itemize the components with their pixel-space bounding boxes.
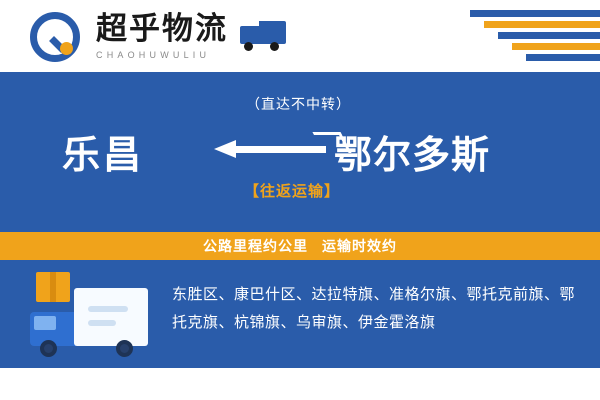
parcel-tape bbox=[50, 272, 56, 302]
header-stripe-2 bbox=[484, 21, 600, 28]
truck-trailer bbox=[74, 288, 148, 346]
header-stripe-4 bbox=[512, 43, 600, 50]
arrow-head bbox=[214, 140, 236, 158]
direct-tag: （直达不中转） bbox=[246, 94, 351, 114]
header-stripes bbox=[470, 10, 600, 62]
header-stripe-3 bbox=[498, 32, 600, 39]
brand-name-en: CHAOHUWULIU bbox=[96, 50, 228, 60]
hero-banner: 乐昌 （直达不中转） 鄂尔多斯 【往返运输】 bbox=[0, 72, 600, 232]
circle-logo-icon bbox=[30, 12, 80, 62]
truck-icon bbox=[240, 18, 286, 52]
poster-root: 超乎物流 CHAOHUWULIU 乐昌 （直达不中转） 鄂尔多斯 【往返运输】 … bbox=[0, 0, 600, 400]
truck-wheel-rear bbox=[270, 42, 279, 51]
header-stripe-1 bbox=[470, 10, 600, 17]
truck-box bbox=[259, 21, 286, 44]
route-arrow-icon bbox=[214, 132, 346, 168]
coverage-areas: 东胜区、康巴什区、达拉特旗、准格尔旗、鄂托克前旗、鄂托克旗、杭锦旗、乌审旗、伊金… bbox=[172, 280, 578, 336]
info-bar: 公路里程约公里 运输时效约 bbox=[0, 232, 600, 260]
header: 超乎物流 CHAOHUWULIU bbox=[0, 0, 600, 72]
brand: 超乎物流 CHAOHUWULIU bbox=[96, 12, 228, 60]
logo-dot bbox=[60, 42, 73, 55]
round-trip-tag: 【往返运输】 bbox=[244, 180, 340, 201]
trailer-line-1 bbox=[88, 306, 128, 312]
truck-wheel-front bbox=[244, 42, 253, 51]
header-stripe-5 bbox=[526, 54, 600, 61]
footer-spacer bbox=[0, 368, 600, 400]
duration-label: 运输时效约 bbox=[322, 236, 397, 256]
brand-name-cn: 超乎物流 bbox=[96, 12, 228, 46]
origin-city: 乐昌 bbox=[62, 124, 144, 179]
arrow-bar bbox=[234, 146, 326, 153]
trailer-line-2 bbox=[88, 320, 116, 326]
truck-window bbox=[34, 316, 56, 330]
destination-city: 鄂尔多斯 bbox=[334, 124, 490, 179]
distance-label: 公路里程约公里 bbox=[203, 236, 308, 256]
coverage-section: 东胜区、康巴什区、达拉特旗、准格尔旗、鄂托克前旗、鄂托克旗、杭锦旗、乌审旗、伊金… bbox=[0, 260, 600, 368]
truck-wheel-front bbox=[40, 340, 57, 357]
delivery-truck-icon bbox=[30, 272, 160, 356]
truck-wheel-rear bbox=[116, 340, 133, 357]
